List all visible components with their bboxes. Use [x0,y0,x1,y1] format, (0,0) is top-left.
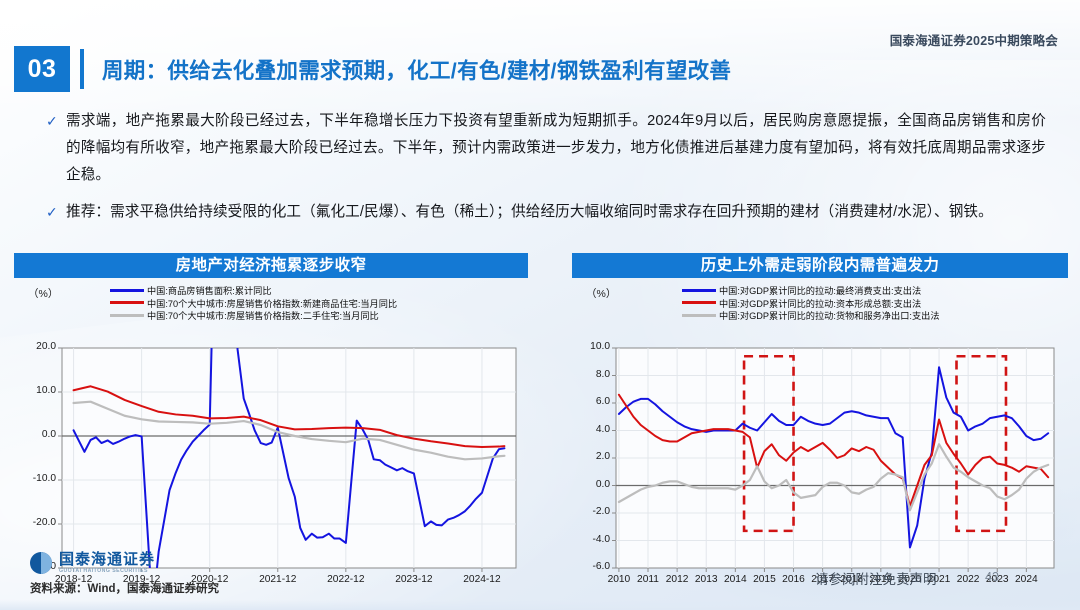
conference-tag: 国泰海通证券2025中期策略会 [890,30,1058,49]
disclaimer-note: 请参阅附注免责声明 [815,568,937,588]
chart-unit-right: （%） [586,286,616,301]
legend-label: 中国:70个大中城市:房屋销售价格指数:二手住宅:当月同比 [147,308,379,322]
chart-body-left: （%） 中国:商品房销售面积:累计同比中国:70个大中城市:房屋销售价格指数:新… [14,278,528,598]
chart-unit-left: （%） [28,286,58,301]
bullet-text: 需求端，地产拖累最大阶段已经过去，下半年稳增长压力下投资有望重新成为短期抓手。2… [66,108,1046,189]
bullet-text: 推荐：需求平稳供给持续受限的化工（氟化工/民爆）、有色（稀土）；供给经历大幅收缩… [66,199,993,226]
logo-mark-icon [30,552,52,574]
x-axis-tick-label: 2024 [994,574,1058,585]
page-title: 周期：供给去化叠加需求预期，化工/有色/建材/钢铁盈利有望改善 [102,54,731,85]
chart-legend-left: 中国:商品房销售面积:累计同比中国:70个大中城市:房屋销售价格指数:新建商品住… [110,284,397,322]
source-note: 资料来源：Wind，国泰海通证券研究 [30,580,219,596]
y-axis-tick-label: -10.0 [14,473,56,484]
chart-body-right: （%） 中国:对GDP累计同比的拉动:最终消费支出:支出法中国:对GDP累计同比… [572,278,1068,598]
y-axis-tick-label: 10.0 [14,385,56,396]
y-axis-tick-label: -2.0 [572,506,610,517]
chart-title-right: 历史上外需走弱阶段内需普遍发力 [572,253,1068,278]
logo-text: 国泰海通证券 GUOTAI HAITONG SECURITIES [59,552,155,574]
y-axis-tick-label: -20.0 [14,517,56,528]
list-item: ✓ 推荐：需求平稳供给持续受限的化工（氟化工/民爆）、有色（稀土）；供给经历大幅… [46,199,1046,226]
chart-panel-right: 历史上外需走弱阶段内需普遍发力 （%） 中国:对GDP累计同比的拉动:最终消费支… [572,253,1068,598]
y-axis-tick-label: 8.0 [572,369,610,380]
y-axis-tick-label: 4.0 [572,424,610,435]
legend-swatch [110,301,144,304]
y-axis-tick-label: -6.0 [572,561,610,572]
page-number: 43 [985,570,999,584]
logo-name-cn: 国泰海通证券 [59,552,155,567]
legend-item: 中国:70个大中城市:房屋销售价格指数:二手住宅:当月同比 [110,309,397,322]
section-number-badge: 03 [14,46,70,92]
x-axis-tick-label: 2021-12 [246,574,310,585]
legend-item: 中国:对GDP累计同比的拉动:资本形成总额:支出法 [682,297,940,310]
chart-panel-left: 房地产对经济拖累逐步收窄 （%） 中国:商品房销售面积:累计同比中国:70个大中… [14,253,528,598]
check-icon: ✓ [46,108,66,189]
legend-swatch [682,301,716,304]
legend-swatch [682,289,716,292]
chart-title-left: 房地产对经济拖累逐步收窄 [14,253,528,278]
legend-item: 中国:对GDP累计同比的拉动:货物和服务净出口:支出法 [682,309,940,322]
logo-name-en: GUOTAI HAITONG SECURITIES [59,568,155,574]
y-axis-tick-label: 2.0 [572,451,610,462]
chart-legend-right: 中国:对GDP累计同比的拉动:最终消费支出:支出法中国:对GDP累计同比的拉动:… [682,284,940,322]
company-logo: 国泰海通证券 GUOTAI HAITONG SECURITIES [30,552,155,574]
x-axis-tick-label: 2023-12 [382,574,446,585]
x-axis-tick-label: 2022-12 [314,574,378,585]
legend-swatch [110,314,144,317]
section-header: 03 周期：供给去化叠加需求预期，化工/有色/建材/钢铁盈利有望改善 [14,46,731,92]
y-axis-tick-label: 0.0 [572,479,610,490]
list-item: ✓ 需求端，地产拖累最大阶段已经过去，下半年稳增长压力下投资有望重新成为短期抓手… [46,108,1046,189]
y-axis-tick-label: 20.0 [14,341,56,352]
chart-plot-right [572,278,1068,598]
legend-item: 中国:70个大中城市:房屋销售价格指数:新建商品住宅:当月同比 [110,297,397,310]
y-axis-tick-label: 6.0 [572,396,610,407]
chart-plot-left [14,278,528,598]
chart-svg [572,278,1068,598]
y-axis-tick-label: 0.0 [14,429,56,440]
bullet-list: ✓ 需求端，地产拖累最大阶段已经过去，下半年稳增长压力下投资有望重新成为短期抓手… [46,108,1046,236]
chart-svg [14,278,528,598]
legend-item: 中国:对GDP累计同比的拉动:最终消费支出:支出法 [682,284,940,297]
legend-item: 中国:商品房销售面积:累计同比 [110,284,397,297]
y-axis-tick-label: 10.0 [572,341,610,352]
legend-swatch [110,289,144,292]
y-axis-tick-label: -4.0 [572,534,610,545]
check-icon: ✓ [46,199,66,226]
section-divider-bar [80,49,84,89]
legend-label: 中国:对GDP累计同比的拉动:货物和服务净出口:支出法 [719,308,940,322]
bottom-strip [0,600,1080,610]
plot-frame [62,348,516,568]
x-axis-tick-label: 2024-12 [450,574,514,585]
legend-swatch [682,314,716,317]
